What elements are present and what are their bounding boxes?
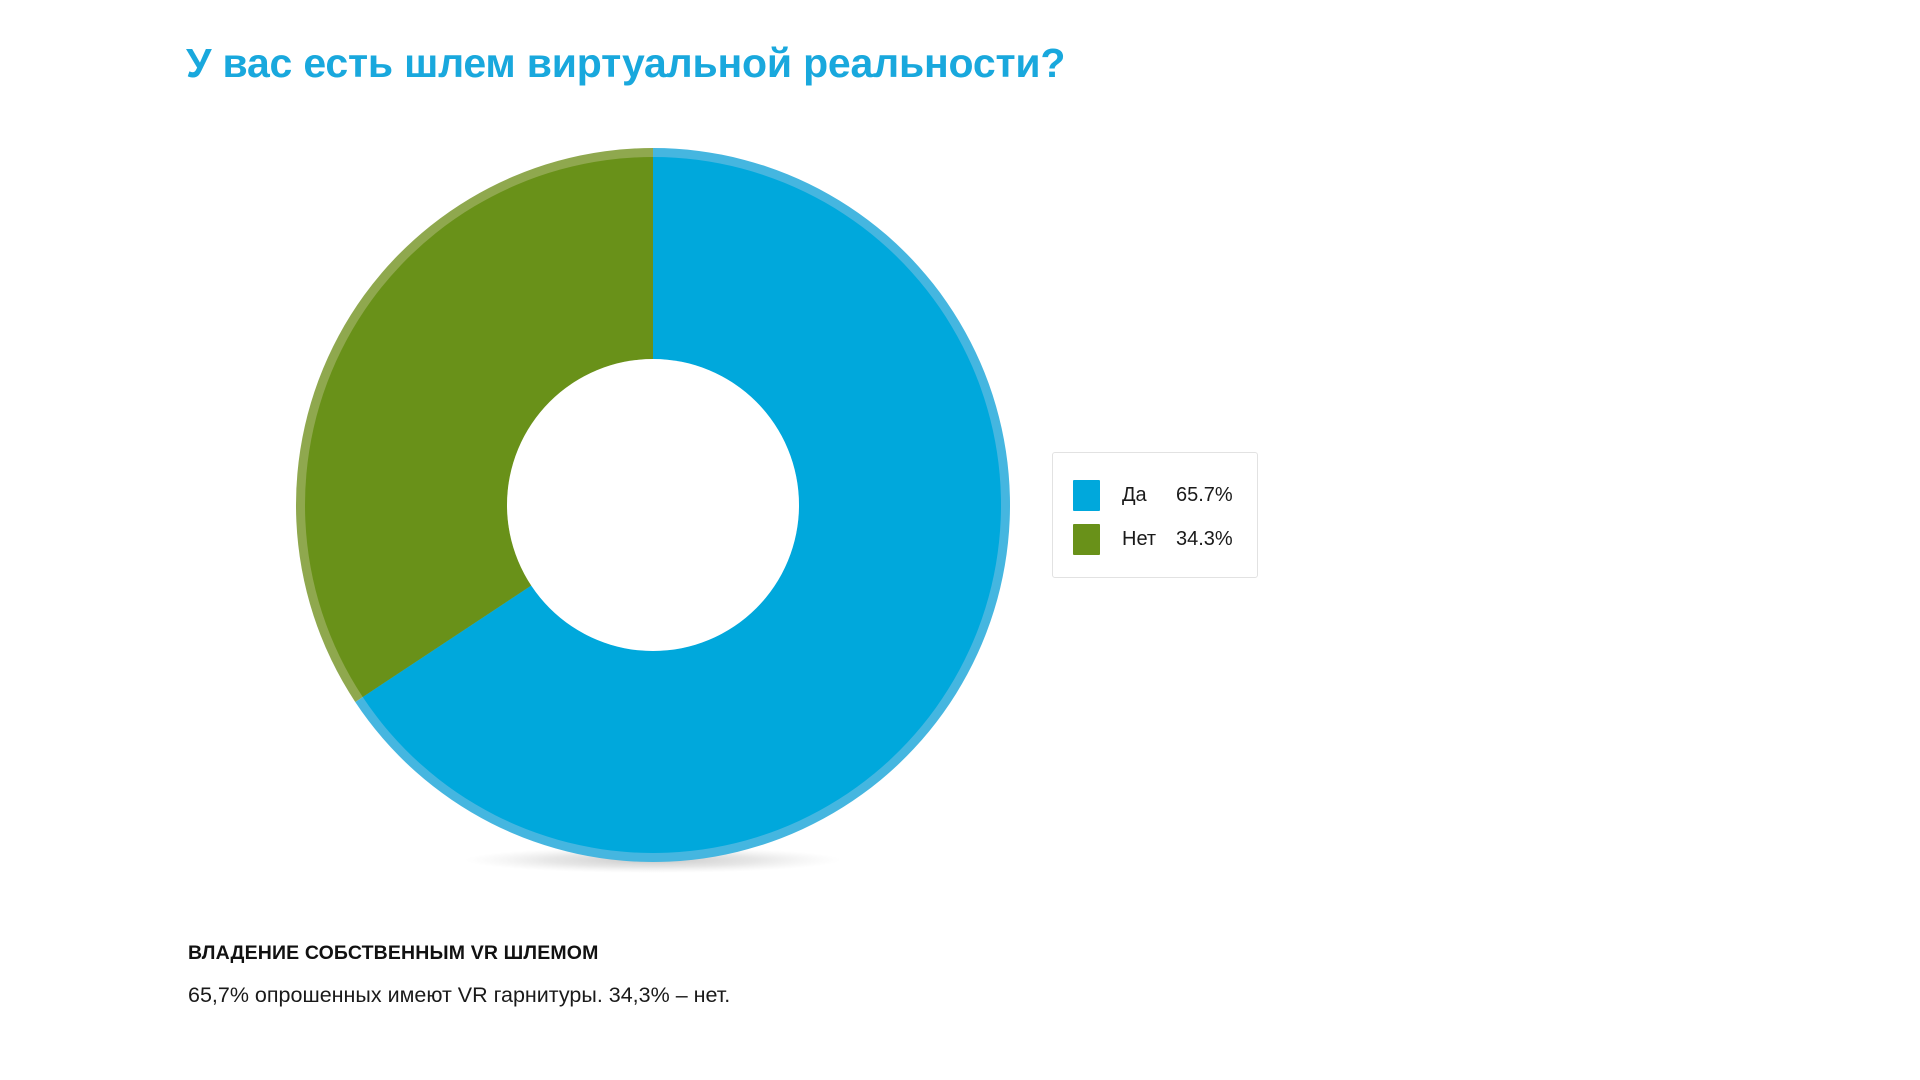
chart-legend: Да 65.7% Нет 34.3% [1052,452,1258,578]
donut-chart [250,120,1070,910]
donut-chart-svg [250,120,1070,910]
caption-block: ВЛАДЕНИЕ СОБСТВЕННЫМ VR ШЛЕМОМ 65,7% опр… [188,942,1088,1008]
legend-swatch-da [1073,480,1100,511]
legend-list: Да 65.7% Нет 34.3% [1073,473,1243,561]
caption-heading: ВЛАДЕНИЕ СОБСТВЕННЫМ VR ШЛЕМОМ [188,942,1088,965]
legend-label-da: Да [1122,484,1172,507]
caption-body: 65,7% опрошенных имеют VR гарнитуры. 34,… [188,983,1088,1008]
legend-item-net[interactable]: Нет 34.3% [1073,517,1243,561]
legend-item-da[interactable]: Да 65.7% [1073,473,1243,517]
legend-swatch-net [1073,524,1100,555]
legend-value-da: 65.7% [1176,484,1233,507]
page-title: У вас есть шлем виртуальной реальности? [186,40,1065,87]
legend-label-net: Нет [1122,528,1172,551]
donut-hole [507,359,799,651]
legend-value-net: 34.3% [1176,528,1233,551]
